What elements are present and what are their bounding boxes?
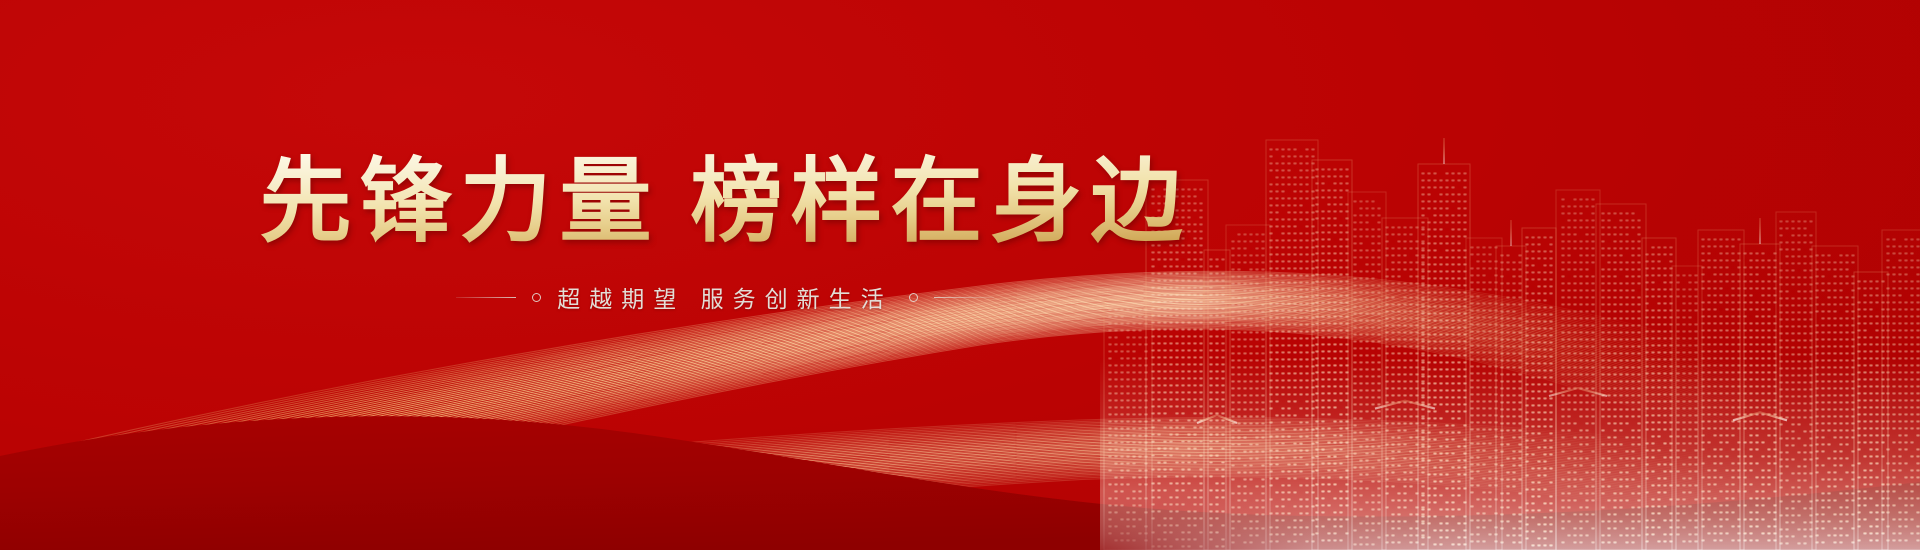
- decor-rule-left: [456, 297, 516, 298]
- poster-canvas: 先锋力量 榜样在身边 超越期望 服务创新生活: [0, 0, 1920, 550]
- page-title: 先锋力量 榜样在身边: [0, 150, 1450, 254]
- dark-red-wave-band: [0, 360, 1920, 550]
- page-subtitle: 超越期望 服务创新生活: [557, 280, 892, 314]
- headline-block: 先锋力量 榜样在身边 超越期望 服务创新生活: [0, 150, 1450, 314]
- subtitle-row: 超越期望 服务创新生活: [0, 280, 1450, 314]
- decor-ring-right-icon: [909, 293, 918, 302]
- decor-ring-left-icon: [532, 293, 541, 302]
- decor-rule-right: [934, 297, 994, 298]
